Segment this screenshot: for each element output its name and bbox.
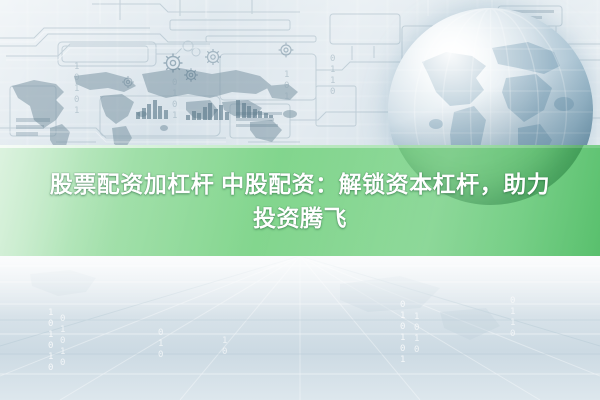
binary-digits: 1 0 1 0 1 0 — [48, 308, 53, 374]
mini-bar-chart-middle — [186, 102, 230, 122]
title-line-2: 投资腾飞 — [10, 201, 590, 235]
gear-icon — [182, 66, 200, 84]
binary-digits: 0 1 1 0 — [510, 296, 515, 340]
gear-icon — [120, 74, 136, 90]
binary-digits: 1 0 1 0 — [414, 312, 419, 356]
binary-digits: 1 0 1 — [284, 70, 289, 103]
title-band: 股票配资加杠杆 中股配资：解锁资本杠杆，助力 投资腾飞 — [0, 145, 600, 256]
gear-icon — [276, 40, 296, 60]
mini-bar-chart-left — [136, 100, 169, 122]
binary-digits: 0 1 1 0 — [330, 54, 335, 98]
page-title: 股票配资加杠杆 中股配资：解锁资本杠杆，助力 投资腾飞 — [0, 145, 600, 256]
title-line-1: 股票配资加杠杆 中股配资：解锁资本杠杆，助力 — [10, 167, 590, 201]
binary-digits: 0 1 0 1 — [172, 78, 177, 122]
gear-icon — [202, 46, 224, 68]
banner-image: 1 0 1 0 1 0 1 0 1 1 0 1 0 1 1 0 — [0, 0, 600, 400]
binary-digits: 0 1 0 1 0 — [60, 314, 65, 369]
binary-digits: 1 0 — [222, 336, 227, 358]
binary-digits: 1 0 1 0 1 — [74, 62, 79, 117]
mini-bar-chart-right — [236, 100, 275, 122]
binary-digits: 0 1 0 — [158, 328, 163, 361]
binary-digits: 0 1 0 1 0 1 — [400, 300, 405, 366]
